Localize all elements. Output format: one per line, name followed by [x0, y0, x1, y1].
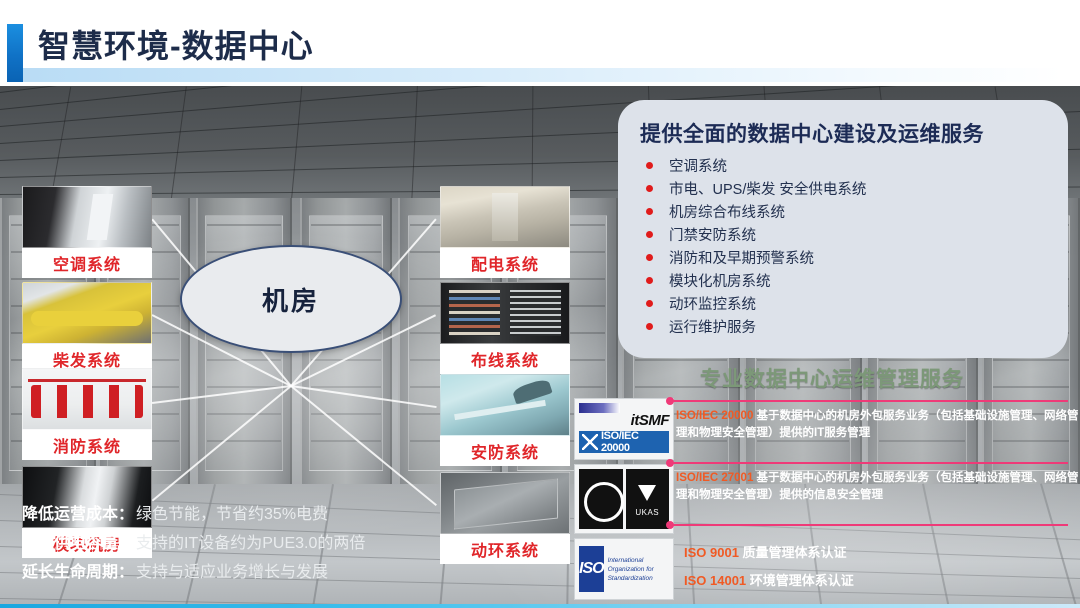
- title-accent-bar: [7, 24, 23, 82]
- ukas-registered-badge: [574, 464, 674, 534]
- hub-node-machine-room[interactable]: 机房: [180, 245, 402, 353]
- system-card-left-1[interactable]: 空调系统: [22, 186, 152, 278]
- bullet-dot-icon: [646, 300, 653, 307]
- certification-row: ISO/IEC 27001 基于数据中心的机房外包服务业务（包括基础设施管理、网…: [676, 470, 1080, 504]
- ukas-crown-icon: [626, 469, 670, 529]
- system-card-right-4[interactable]: 动环系统: [440, 472, 570, 564]
- slide-canvas: 智慧环境-数据中心 空调系统柴发系统消防系统模块机房 配电系统布线系统安防系统动…: [0, 0, 1080, 608]
- service-item: 门禁安防系统: [640, 223, 1046, 246]
- certification-description: 环境管理体系认证: [750, 573, 854, 588]
- certification-row: ISO/IEC 20000 基于数据中心的机房外包服务业务（包括基础设施管理、网…: [676, 408, 1080, 442]
- service-item-label: 运行维护服务: [669, 316, 756, 337]
- certification-simple-row: ISO 14001 环境管理体系认证: [684, 572, 1080, 589]
- system-card-label: 安防系统: [440, 436, 570, 466]
- title-underline: [23, 68, 1063, 82]
- itsmf-wordmark: itSMF: [579, 413, 669, 428]
- certification-code: ISO 9001: [684, 545, 743, 560]
- certification-badges: itSMF ISO/IEC 20000 ISO International Or…: [574, 398, 674, 604]
- iso-wordmark: ISO: [579, 546, 604, 592]
- itsmf-iso20000-badge: itSMF ISO/IEC 20000: [574, 398, 674, 460]
- benefit-label: 延长生命周期：: [22, 558, 134, 582]
- environment-monitoring-photo: [440, 472, 570, 534]
- certification-code: ISO/IEC 27001: [676, 472, 757, 484]
- service-item: 消防和及早期预警系统: [640, 246, 1046, 269]
- bullet-dot-icon: [646, 277, 653, 284]
- certifications-heading: 专业数据中心运维管理服务: [700, 363, 964, 393]
- system-card-label: 布线系统: [440, 344, 570, 374]
- service-item: 模块化机房系统: [640, 269, 1046, 292]
- benefit-label: 降低运营成本：: [22, 500, 134, 524]
- itsmf-bar-icon: [579, 403, 620, 413]
- certification-code: ISO/IEC 20000: [676, 410, 757, 422]
- service-item-label: 动环监控系统: [669, 293, 756, 314]
- services-panel: 提供全面的数据中心建设及运维服务 空调系统市电、UPS/柴发 安全供电系统机房综…: [618, 100, 1068, 358]
- benefits-list: 降低运营成本：绿色节能，节省约35%电费增加供电容量：支持的IT设备约为PUE3…: [22, 500, 452, 587]
- bullet-dot-icon: [646, 208, 653, 215]
- service-item-label: 机房综合布线系统: [669, 201, 785, 222]
- service-item-label: 门禁安防系统: [669, 224, 756, 245]
- system-card-right-1[interactable]: 配电系统: [440, 186, 570, 278]
- certification-simple-row: ISO 9001 质量管理体系认证: [684, 544, 1080, 561]
- iso20000-bar-label: ISO/IEC 20000: [579, 431, 669, 453]
- iso-subtitle: International Organization for Standardi…: [608, 556, 669, 583]
- service-item-label: 模块化机房系统: [669, 270, 771, 291]
- certification-divider-line: [672, 400, 1068, 402]
- benefit-row: 降低运营成本：绿色节能，节省约35%电费: [22, 500, 452, 529]
- iso-standardization-badge: ISO International Organization for Stand…: [574, 538, 674, 600]
- system-card-label: 消防系统: [22, 430, 152, 460]
- service-item-label: 空调系统: [669, 155, 727, 176]
- slide-title-bar: 智慧环境-数据中心: [0, 0, 1080, 86]
- service-item: 动环监控系统: [640, 292, 1046, 315]
- services-panel-heading: 提供全面的数据中心建设及运维服务: [640, 118, 1046, 148]
- services-list: 空调系统市电、UPS/柴发 安全供电系统机房综合布线系统门禁安防系统消防和及早期…: [640, 154, 1046, 338]
- system-card-right-2[interactable]: 布线系统: [440, 282, 570, 374]
- fire-suppression-photo: [22, 368, 152, 430]
- service-item-label: 市电、UPS/柴发 安全供电系统: [669, 178, 866, 199]
- system-card-left-3[interactable]: 消防系统: [22, 368, 152, 460]
- benefit-label: 增加供电容量：: [22, 529, 134, 553]
- bullet-dot-icon: [646, 231, 653, 238]
- power-distribution-photo: [440, 186, 570, 248]
- hub-label: 机房: [262, 281, 320, 318]
- benefit-row: 增加供电容量：支持的IT设备约为PUE3.0的两倍: [22, 529, 452, 558]
- security-photo: [440, 374, 570, 436]
- service-item: 运行维护服务: [640, 315, 1046, 338]
- bullet-dot-icon: [646, 162, 653, 169]
- diesel-generator-photo: [22, 282, 152, 344]
- service-item: 机房综合布线系统: [640, 200, 1046, 223]
- bottom-accent-strip: [0, 604, 1080, 608]
- bullet-dot-icon: [646, 323, 653, 330]
- bullet-dot-icon: [646, 185, 653, 192]
- system-card-right-3[interactable]: 安防系统: [440, 374, 570, 466]
- certification-description: 质量管理体系认证: [743, 545, 847, 560]
- page-title: 智慧环境-数据中心: [38, 23, 314, 69]
- bullet-dot-icon: [646, 254, 653, 261]
- certification-divider-line: [672, 524, 1068, 526]
- system-card-label: 动环系统: [440, 534, 570, 564]
- benefit-value: 绿色节能，节省约35%电费: [136, 500, 328, 524]
- cabling-photo: [440, 282, 570, 344]
- certification-divider-line: [672, 462, 1068, 464]
- service-item: 市电、UPS/柴发 安全供电系统: [640, 177, 1046, 200]
- benefit-value: 支持的IT设备约为PUE3.0的两倍: [136, 529, 365, 553]
- service-item: 空调系统: [640, 154, 1046, 177]
- benefit-value: 支持与适应业务增长与发展: [136, 558, 328, 582]
- benefit-row: 延长生命周期：支持与适应业务增长与发展: [22, 558, 452, 587]
- registered-seal-icon: [579, 469, 623, 529]
- system-card-label: 空调系统: [22, 248, 152, 278]
- certification-code: ISO 14001: [684, 573, 750, 588]
- service-item-label: 消防和及早期预警系统: [669, 247, 814, 268]
- system-card-left-2[interactable]: 柴发系统: [22, 282, 152, 374]
- air-conditioning-photo: [22, 186, 152, 248]
- system-card-label: 配电系统: [440, 248, 570, 278]
